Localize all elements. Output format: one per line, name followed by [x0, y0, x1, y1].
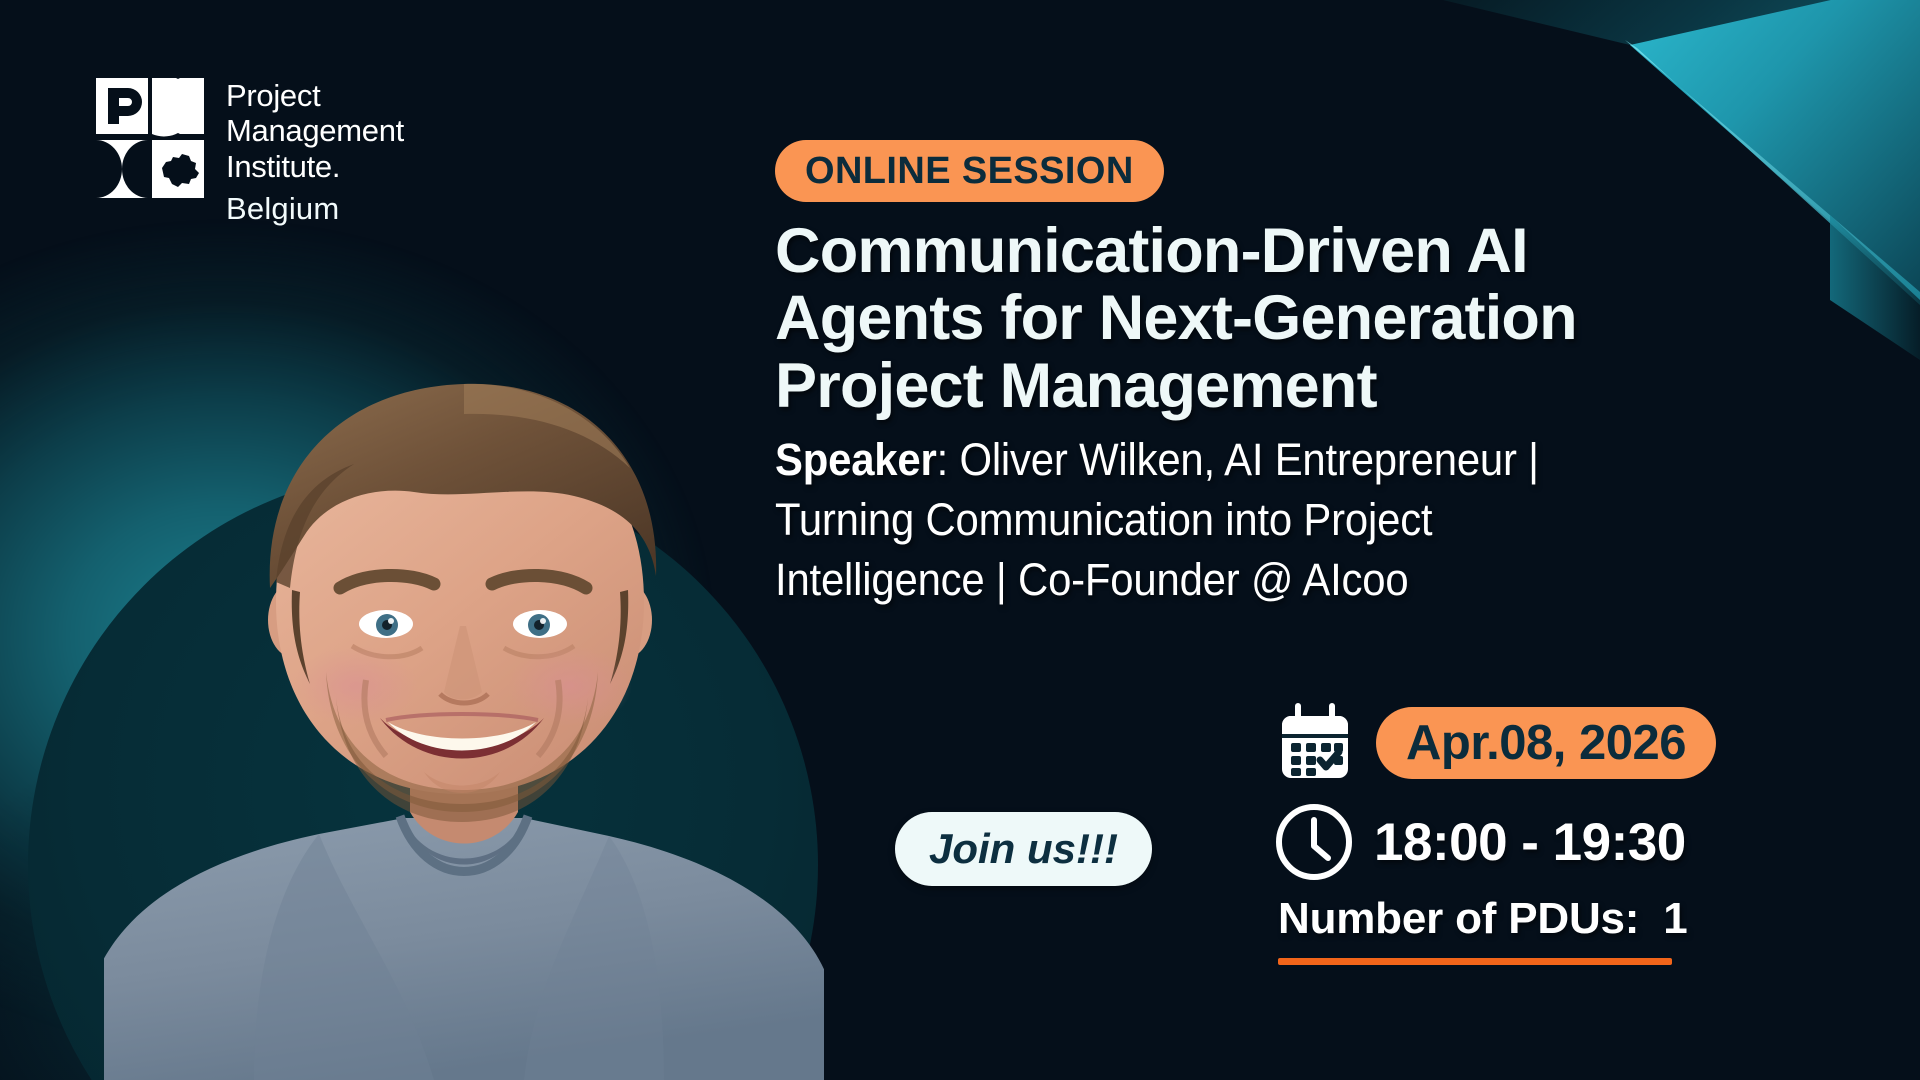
- online-session-badge: ONLINE SESSION: [775, 140, 1164, 202]
- speaker-portrait: [104, 320, 824, 1080]
- title-line-2: Agents for Next-Generation: [775, 285, 1675, 352]
- logo-text-line-1: Project: [226, 78, 404, 113]
- title-line-3: Project Management: [775, 353, 1675, 420]
- calendar-check-icon: [1272, 700, 1358, 786]
- page-title: Communication-Driven AI Agents for Next-…: [775, 218, 1675, 420]
- pmi-logo-mark-icon: [96, 78, 204, 198]
- accent-rule: [1278, 958, 1672, 965]
- event-time: 18:00 - 19:30: [1374, 816, 1686, 869]
- pmi-belgium-logo: Project Management Institute. Belgium: [96, 78, 404, 226]
- speaker-label: Speaker: [775, 434, 937, 485]
- logo-text-country: Belgium: [226, 191, 404, 226]
- event-date-badge: Apr.08, 2026: [1376, 707, 1716, 779]
- logo-text-line-3: Institute.: [226, 149, 404, 184]
- event-banner: Project Management Institute. Belgium: [0, 0, 1920, 1080]
- pdu-count: Number of PDUs: 1: [1272, 894, 1792, 944]
- time-row: 18:00 - 19:30: [1272, 800, 1792, 884]
- event-details: Apr.08, 2026 18:00 - 19:30 Number of PDU…: [1272, 700, 1792, 965]
- clock-icon: [1272, 800, 1356, 884]
- join-us-button[interactable]: Join us!!!: [895, 812, 1152, 886]
- speaker-description: Speaker: Oliver Wilken, AI Entrepreneur …: [775, 430, 1631, 610]
- date-row: Apr.08, 2026: [1272, 700, 1792, 786]
- content-column: ONLINE SESSION Communication-Driven AI A…: [775, 140, 1865, 610]
- title-line-1: Communication-Driven AI: [775, 218, 1675, 285]
- logo-text-line-2: Management: [226, 113, 404, 148]
